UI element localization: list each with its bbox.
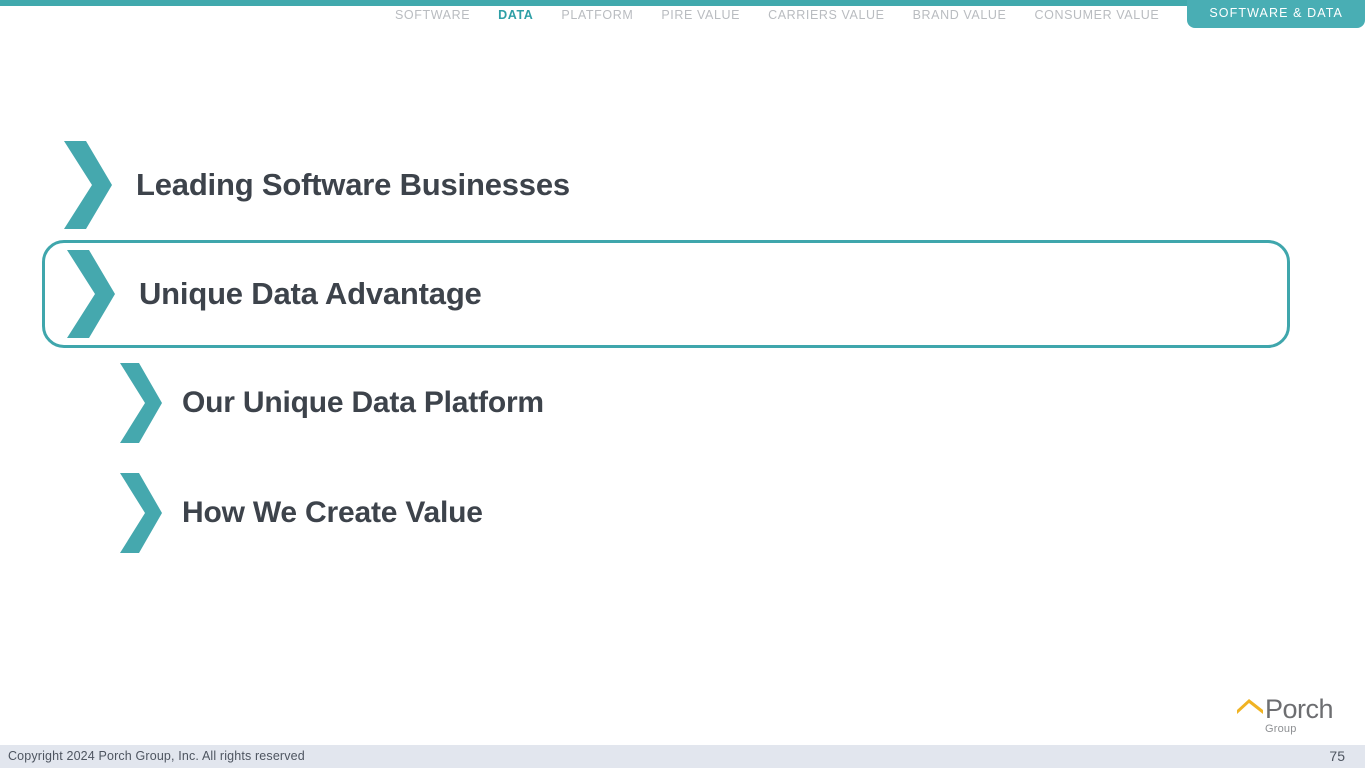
- nav-item-data[interactable]: DATA: [498, 0, 533, 25]
- chevron-right-icon: [118, 361, 164, 445]
- agenda-item-label: How We Create Value: [182, 496, 483, 530]
- nav-item-pire-value[interactable]: PIRE VALUE: [661, 0, 740, 25]
- agenda-item-unique-data-advantage[interactable]: Unique Data Advantage: [42, 240, 1290, 348]
- logo-main: Porch: [1235, 694, 1333, 724]
- logo-wordmark: Porch: [1265, 694, 1333, 724]
- agenda-item-leading-software-businesses[interactable]: Leading Software Businesses: [0, 130, 1365, 240]
- chevron-right-icon: [118, 471, 164, 555]
- nav-item-platform[interactable]: PLATFORM: [561, 0, 633, 25]
- top-navigation: SOFTWARE DATA PLATFORM PIRE VALUE CARRIE…: [0, 0, 1365, 27]
- agenda-list: Leading Software Businesses Unique Data …: [0, 130, 1365, 568]
- logo-subtext: Group: [1265, 723, 1297, 735]
- chevron-right-icon: [62, 139, 114, 231]
- nav-item-carriers-value[interactable]: CARRIERS VALUE: [768, 0, 885, 25]
- nav-item-brand-value[interactable]: BRAND VALUE: [913, 0, 1007, 25]
- nav-item-consumer-value[interactable]: CONSUMER VALUE: [1035, 0, 1160, 25]
- roof-chevron-icon: [1235, 698, 1265, 720]
- nav-item-software[interactable]: SOFTWARE: [395, 0, 470, 25]
- chevron-right-icon: [65, 248, 117, 340]
- footer-page-number: 75: [1329, 748, 1345, 764]
- agenda-item-label: Unique Data Advantage: [139, 276, 482, 312]
- footer-bar: Copyright 2024 Porch Group, Inc. All rig…: [0, 745, 1365, 768]
- agenda-item-label: Leading Software Businesses: [136, 167, 570, 203]
- agenda-item-our-unique-data-platform[interactable]: Our Unique Data Platform: [0, 348, 1365, 458]
- agenda-item-how-we-create-value[interactable]: How We Create Value: [0, 458, 1365, 568]
- agenda-item-label: Our Unique Data Platform: [182, 386, 544, 420]
- nav-tab-software-and-data[interactable]: SOFTWARE & DATA: [1187, 0, 1365, 28]
- porch-group-logo: Porch Group: [1235, 694, 1345, 740]
- footer-copyright: Copyright 2024 Porch Group, Inc. All rig…: [8, 749, 305, 763]
